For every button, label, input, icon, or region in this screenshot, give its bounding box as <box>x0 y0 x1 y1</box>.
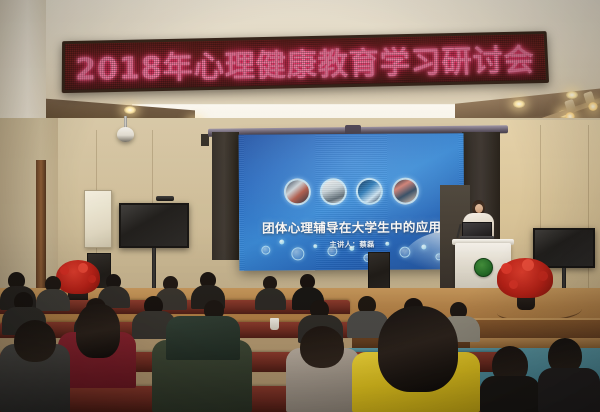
dome-camera-icon <box>117 127 134 142</box>
track-bulb-icon <box>588 102 598 111</box>
slide-photo-icon-2 <box>320 178 347 205</box>
audience-head <box>14 320 56 362</box>
wall-panel-board <box>84 190 112 248</box>
led-banner-text: 2018年心理健康教育学习研讨会 <box>65 35 546 89</box>
slide-bubble-icon <box>327 246 337 256</box>
downlight-icon <box>566 91 578 99</box>
audience-body <box>480 376 540 412</box>
slide-bubble-icon <box>313 244 317 248</box>
podium-emblem-icon <box>474 258 493 277</box>
slide-bubble-icon <box>349 246 354 251</box>
laptop-screen <box>462 222 492 237</box>
stage-curtain-left <box>212 132 239 260</box>
back-wall-left <box>0 118 58 293</box>
downlight-icon <box>513 100 525 108</box>
audience-head-long-hair <box>378 306 458 392</box>
slide-bubble-icon <box>385 242 389 246</box>
slide-photo-icon-3 <box>356 178 383 205</box>
slide-bubble-icon <box>291 247 304 260</box>
monitor-top-camera-icon <box>156 196 174 201</box>
presenter-face <box>475 204 483 213</box>
projection-screen: 团体心理辅导在大学生中的应用 主讲人：蔡磊 <box>239 133 465 271</box>
audience-head-long-hair <box>76 304 120 358</box>
slide-photo-icon-4 <box>392 178 419 205</box>
led-banner: 2018年心理健康教育学习研讨会 <box>62 31 549 93</box>
wall-wood-trim <box>36 160 46 290</box>
paper-cup <box>270 318 279 330</box>
monitor-left <box>119 203 189 248</box>
flower-bloom <box>522 259 534 271</box>
auditorium-photo: 2018年心理健康教育学习研讨会 团体心理辅导在大学生中的应用 主讲人：蔡磊 <box>0 0 600 412</box>
audience-body <box>36 289 70 311</box>
audience-head <box>300 326 344 368</box>
slide-bubble-icon <box>279 239 284 244</box>
slide-icon-row <box>239 177 464 206</box>
downlight-icon <box>124 106 136 114</box>
flower-bloom <box>88 275 96 283</box>
audience-body-hooded <box>166 316 240 360</box>
flower-bloom <box>60 266 69 275</box>
flower-bloom <box>501 263 512 274</box>
flower-bloom <box>538 271 548 281</box>
flower-bloom <box>509 280 518 289</box>
audience-body <box>255 288 286 310</box>
slide-bubble-icon <box>261 246 270 255</box>
flower-bloom <box>78 263 88 273</box>
audience-body <box>538 368 600 412</box>
slide-photo-icon-1 <box>284 178 311 205</box>
